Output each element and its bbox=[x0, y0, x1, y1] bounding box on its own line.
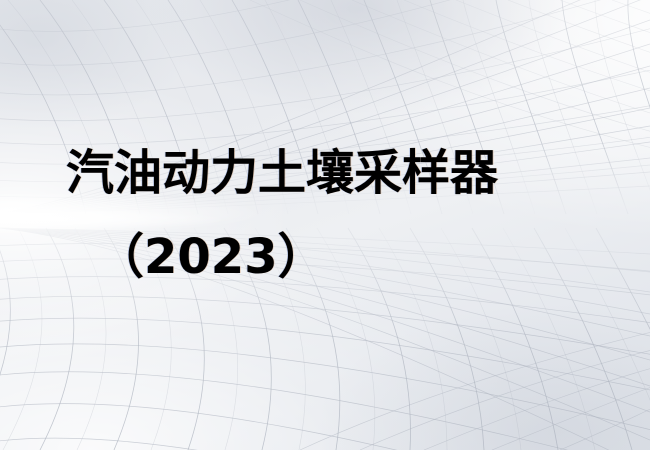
page-title: 汽油动力土壤采样器 bbox=[66, 148, 498, 199]
slide-subtitle-year: （2023） bbox=[96, 232, 326, 283]
slide-text-block: 汽油动力土壤采样器 （2023） bbox=[0, 0, 650, 450]
title-slide: 汽油动力土壤采样器 （2023） bbox=[0, 0, 650, 450]
